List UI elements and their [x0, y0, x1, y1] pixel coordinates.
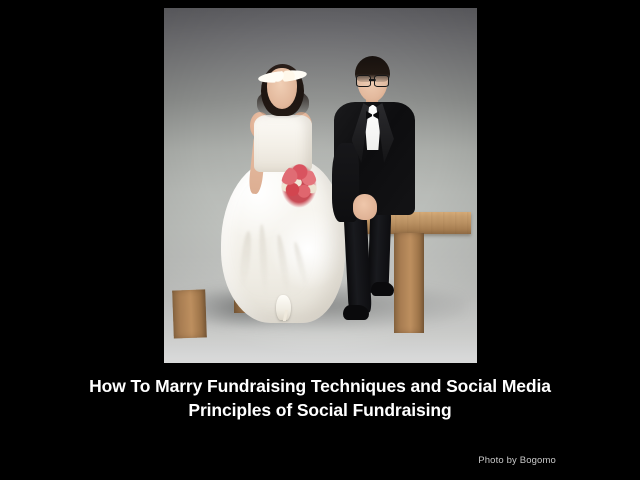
presentation-slide: How To Marry Fundraising Techniques and …: [0, 0, 640, 480]
bride-shoe: [276, 295, 292, 320]
wedding-couple-photo: [164, 8, 477, 363]
gown-fold: [292, 241, 310, 290]
gown-fold: [238, 230, 253, 290]
rose-bouquet: [281, 164, 317, 208]
groom-figure: [330, 58, 433, 342]
groom-hands: [353, 194, 378, 220]
groom-shoe-near: [343, 305, 369, 321]
photo-credit: Photo by Bogomo: [478, 455, 556, 466]
slide-title-line-2: Principles of Social Fundraising: [0, 398, 640, 422]
groom-bow-tie: [366, 110, 379, 120]
slide-title-line-1: How To Marry Fundraising Techniques and …: [0, 374, 640, 398]
bench-leg-left: [173, 290, 208, 339]
slide-title: How To Marry Fundraising Techniques and …: [0, 374, 640, 422]
glasses-lens-left: [356, 75, 371, 87]
glasses-lens-right: [374, 75, 389, 87]
groom-glasses-icon: [356, 75, 389, 85]
gown-fold: [275, 234, 292, 297]
gown-fold: [259, 224, 270, 296]
groom-shoe-far: [371, 282, 394, 296]
